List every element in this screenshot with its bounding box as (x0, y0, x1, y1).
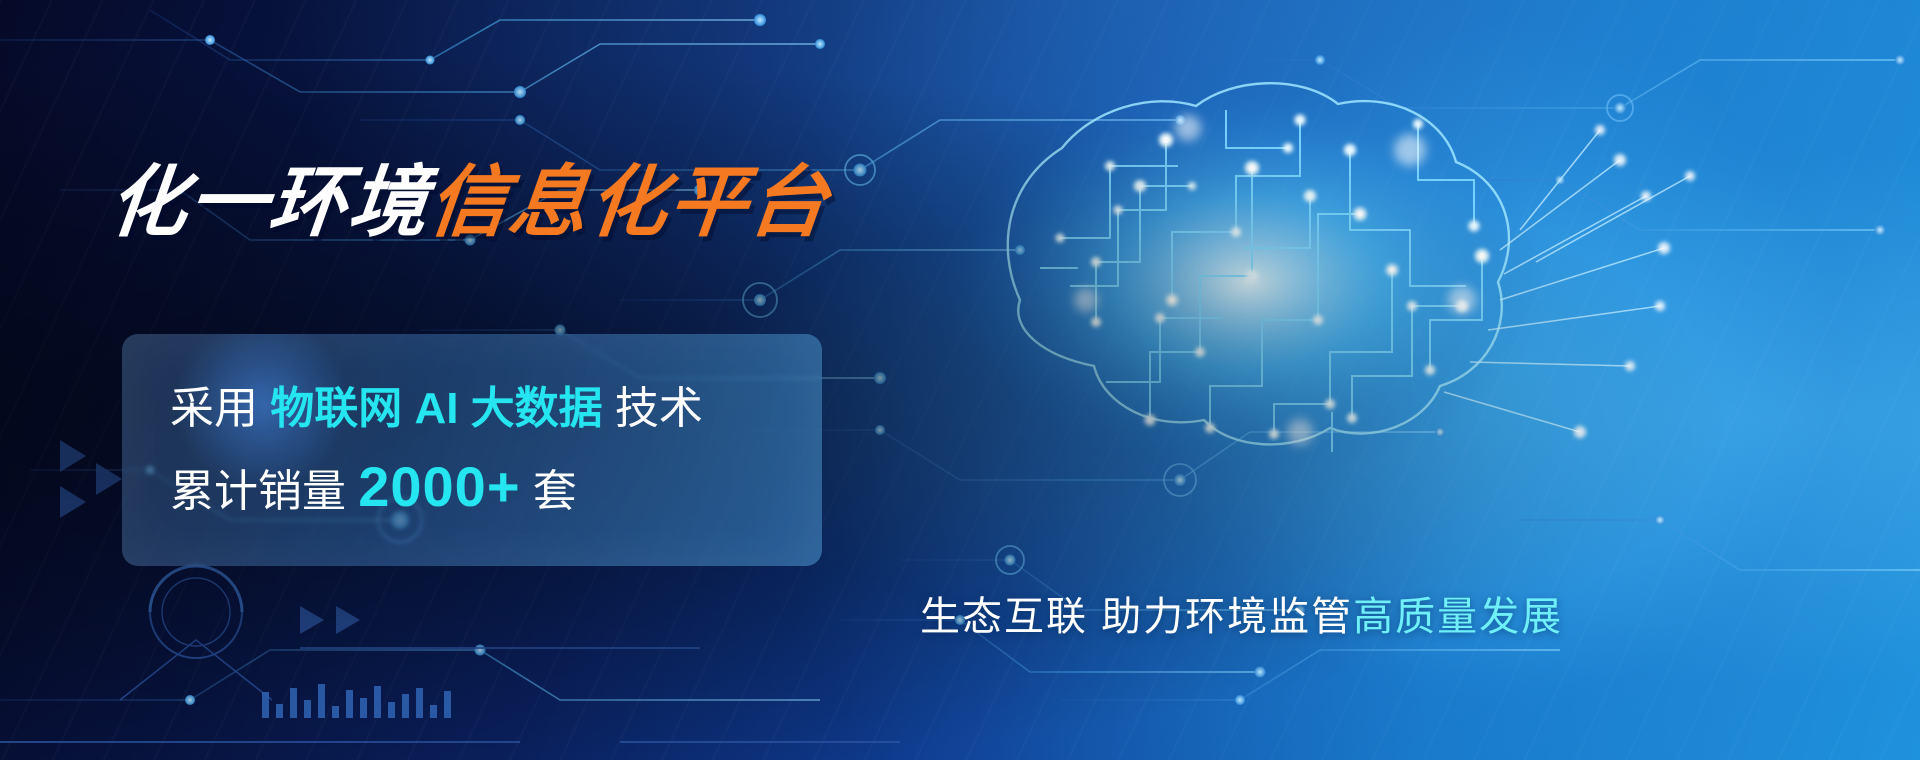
line2-suffix: 套 (533, 467, 577, 516)
equalizer-bars (262, 684, 451, 718)
line1-highlight: 物联网 AI 大数据 (270, 384, 602, 433)
title-white-part: 化一环境 (105, 158, 434, 246)
tagline: 生态互联 助力环境监管高质量发展 (920, 584, 1563, 642)
tagline-white-part: 生态互联 助力环境监管 (920, 595, 1353, 639)
feature-line-technology: 采用 物联网 AI 大数据 技术 (170, 372, 703, 436)
line1-suffix: 技术 (615, 384, 703, 433)
ai-brain-icon (948, 83, 1695, 478)
line1-prefix: 采用 (170, 384, 258, 433)
hud-decoration (0, 530, 760, 760)
feature-line-sales: 累计销量 2000+ 套 (170, 454, 577, 519)
title-orange-part: 信息化平台 (425, 158, 834, 246)
tagline-cyan-part: 高质量发展 (1353, 595, 1563, 639)
page-title: 化一环境信息化平台 (104, 140, 836, 252)
line2-prefix: 累计销量 (170, 467, 346, 516)
sales-count: 2000+ (358, 455, 520, 518)
marketing-banner: 化一环境信息化平台 采用 物联网 AI 大数据 技术 累计销量 2000+ 套 … (0, 0, 1920, 760)
